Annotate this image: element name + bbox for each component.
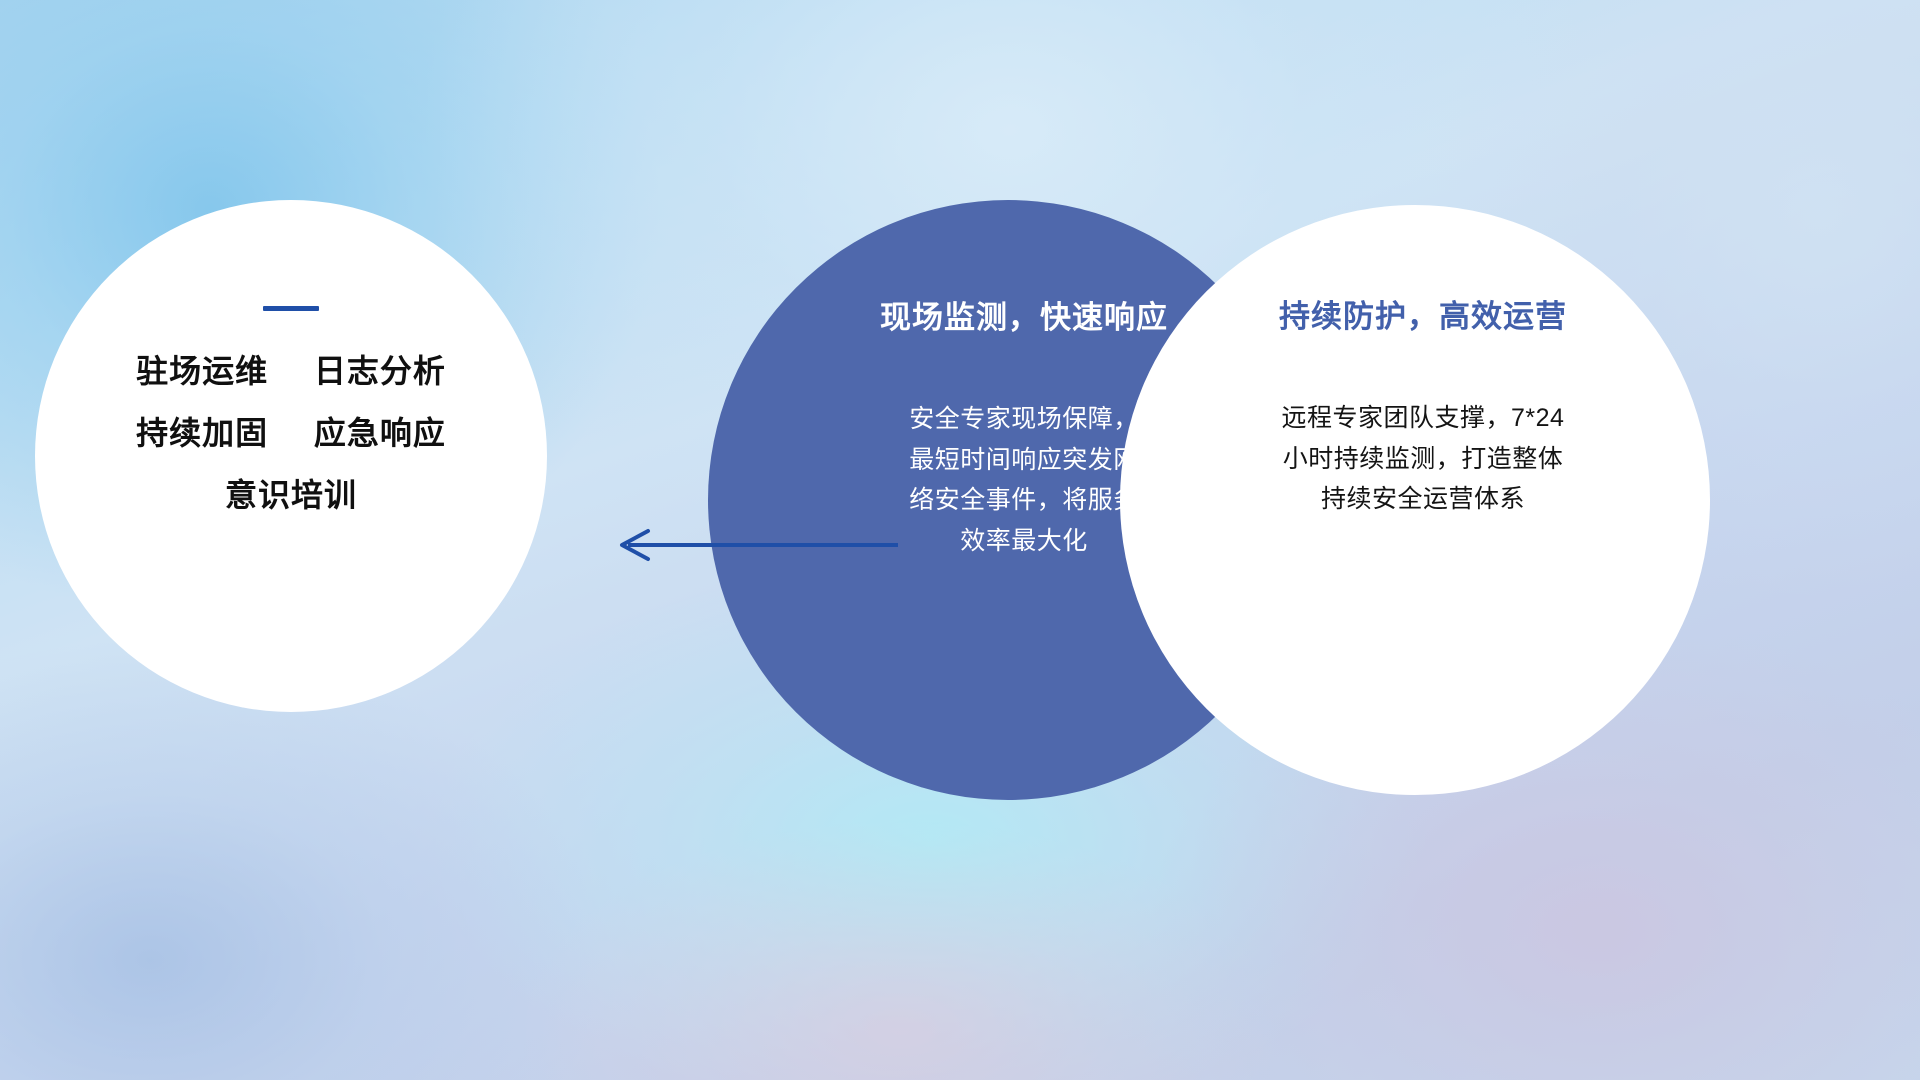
overview-item-yishipeixun: 意识培训 [225,477,357,513]
continuous-content: 持续防护，高效运营 远程专家团队支撑，7*24 小时持续监测，打造整体 持续安全… [1166,291,1680,520]
overview-content: 驻场运维 日志分析 持续加固 应急响应 意识培训 [35,306,547,511]
overview-row-3: 意识培训 [35,479,547,511]
slide-canvas: 现场监测，快速响应 安全专家现场保障， 最短时间响应突发网 络安全事件，将服务 … [0,0,1920,1080]
circle-continuous-protection[interactable]: 持续防护，高效运营 远程专家团队支撑，7*24 小时持续监测，打造整体 持续安全… [1120,205,1710,795]
overview-item-chixujiagu: 持续加固 [136,415,268,451]
overview-item-zhuchangyunwei: 驻场运维 [136,353,268,389]
overview-item-rizhifenxi: 日志分析 [314,353,446,389]
overview-row-1: 驻场运维 日志分析 [35,355,547,387]
overview-row-2: 持续加固 应急响应 [35,417,547,449]
flow-arrow-left [600,510,900,580]
overview-divider-dash [263,306,319,311]
continuous-body-line-3: 持续安全运营体系 [1166,479,1680,520]
overview-item-yingjixiangying: 应急响应 [314,415,446,451]
continuous-body-line-2: 小时持续监测，打造整体 [1166,439,1680,480]
continuous-body-line-1: 远程专家团队支撑，7*24 [1166,398,1680,439]
continuous-body: 远程专家团队支撑，7*24 小时持续监测，打造整体 持续安全运营体系 [1166,398,1680,520]
circle-capability-overview[interactable]: 驻场运维 日志分析 持续加固 应急响应 意识培训 [35,200,547,712]
continuous-title: 持续防护，高效运营 [1166,291,1680,336]
